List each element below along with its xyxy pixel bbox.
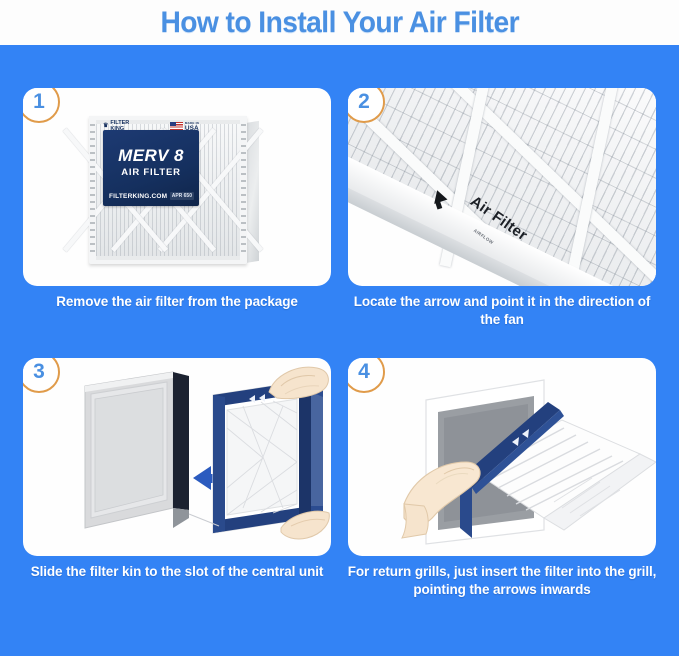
filter-king-logo: ♛ FILTER KING (103, 120, 129, 132)
return-grill-diagram (348, 358, 656, 556)
step-4-illustration (348, 358, 656, 556)
filter-box-front: ♛ FILTER KING (89, 116, 247, 264)
step-3-card: 3 (23, 358, 331, 556)
frame-ticks-right (241, 124, 246, 256)
slide-filter-diagram (23, 358, 331, 556)
label-subtitle: AIR FILTER (103, 167, 199, 178)
usa-text: MADE IN USA (185, 120, 199, 132)
page-title: How to Install Your Air Filter (160, 6, 519, 40)
country-text: USA (185, 125, 199, 132)
brand-text: FILTER KING (110, 120, 129, 132)
angled-filter-graphic (348, 88, 656, 286)
label-header-row: ♛ FILTER KING (103, 120, 199, 132)
step-2: Air Filter AIRFLOW 2 Locate the arrow an… (348, 88, 656, 333)
product-label: ♛ FILTER KING (103, 130, 199, 206)
apr-rating-badge: APR 650 (170, 192, 194, 200)
merv-rating: MERV 8 (103, 146, 199, 166)
made-in-usa-badge: MADE IN USA (170, 120, 199, 132)
step-1-card: ♛ FILTER KING (23, 88, 331, 286)
frame-edge-bottom (96, 256, 240, 260)
frame-ticks-left (90, 124, 95, 256)
crown-icon: ♛ (103, 123, 108, 129)
step-3-caption: Slide the filter kin to the slot of the … (17, 563, 337, 581)
step-4-caption: For return grills, just insert the filte… (342, 563, 662, 599)
step-4: 4 For return grills, just insert the fil… (348, 358, 656, 603)
boxed-filter-graphic: ♛ FILTER KING (89, 116, 259, 266)
step-1-caption: Remove the air filter from the package (17, 293, 337, 311)
poster-header: How to Install Your Air Filter (0, 0, 679, 45)
step-3: 3 Slide the filter kin to the slot of th… (23, 358, 331, 603)
steps-grid: ♛ FILTER KING (0, 45, 679, 656)
step-1: ♛ FILTER KING (23, 88, 331, 333)
infographic-poster: How to Install Your Air Filter (0, 0, 679, 656)
filter-panel (213, 380, 323, 533)
central-unit-slot (85, 372, 189, 528)
step-1-illustration: ♛ FILTER KING (23, 88, 331, 286)
brand-line-2: KING (110, 126, 124, 132)
step-2-caption: Locate the arrow and point it in the dir… (342, 293, 662, 329)
usa-flag-icon (170, 122, 183, 130)
step-2-card: Air Filter AIRFLOW 2 (348, 88, 656, 286)
step-2-illustration: Air Filter AIRFLOW (348, 88, 656, 286)
step-4-card: 4 (348, 358, 656, 556)
step-3-illustration (23, 358, 331, 556)
label-footer-row: FILTERKING.COM APR 650 (109, 192, 194, 200)
website-text: FILTERKING.COM (109, 193, 167, 200)
